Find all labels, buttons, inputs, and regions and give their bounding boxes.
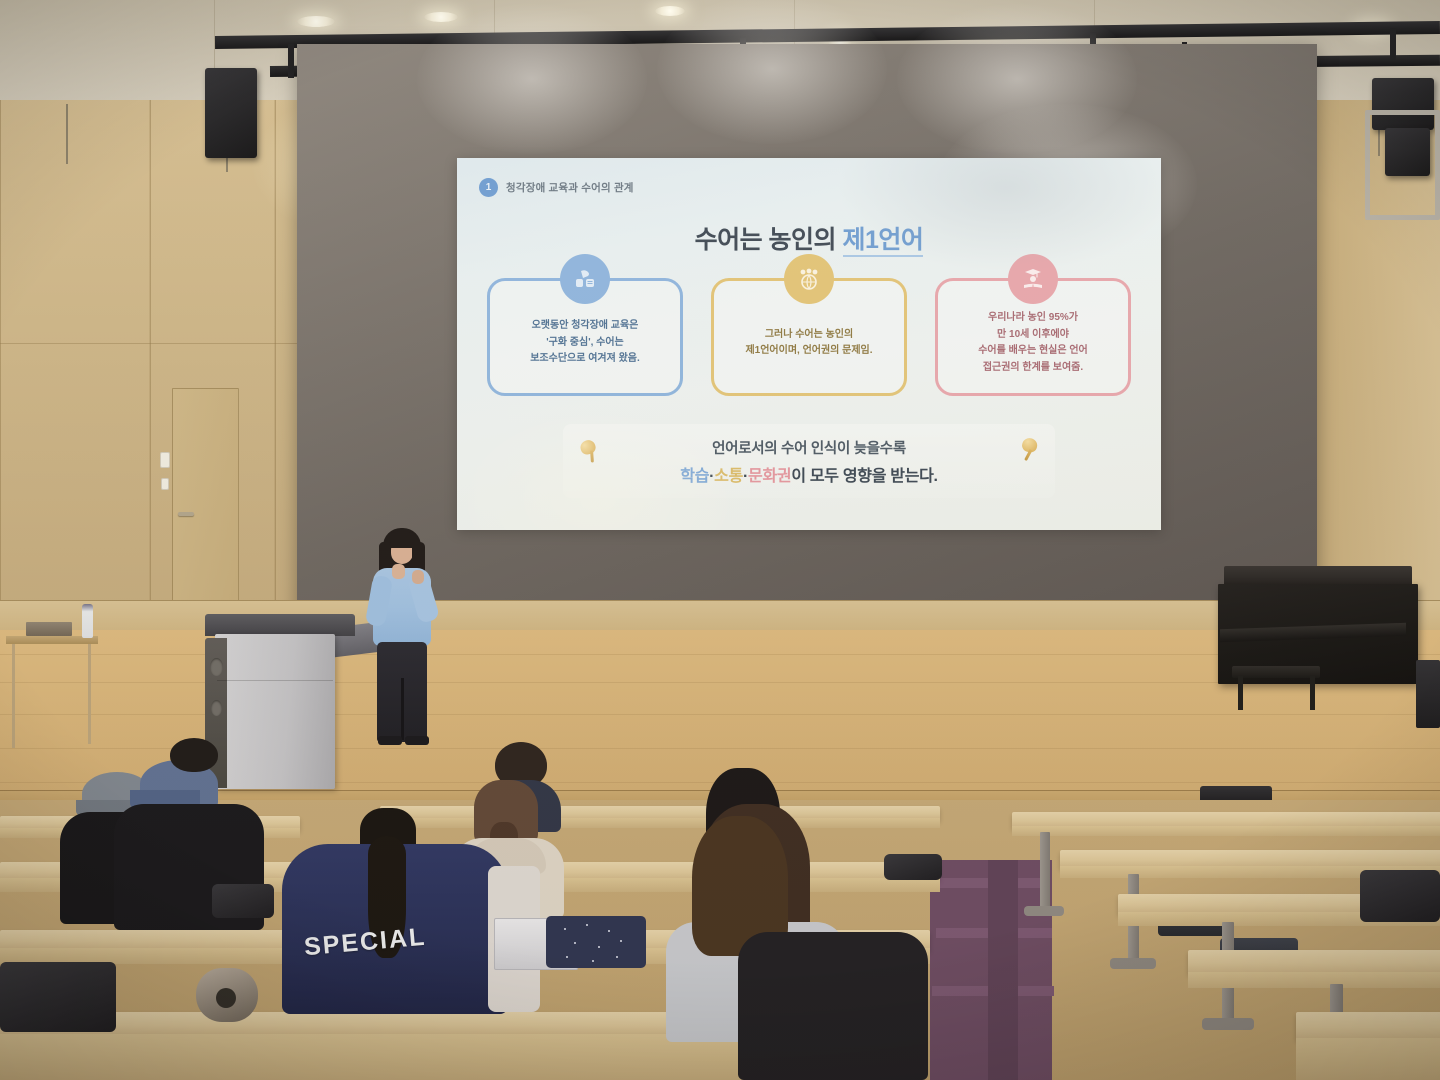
- slide-card-language-rights: 그러나 수어는 농인의 제1언어이며, 언어권의 문제임.: [711, 278, 907, 396]
- bag-on-desk: [884, 854, 942, 880]
- ceiling-light-icon: [297, 16, 335, 27]
- presenter-signing: [365, 528, 437, 758]
- backpack: [0, 962, 116, 1032]
- slide-card-group: 오랫동안 청각장애 교육은 '구화 중심', 수어는 보조수단으로 여겨져 왔음…: [487, 278, 1131, 396]
- slide-card-oralism: 오랫동안 청각장애 교육은 '구화 중심', 수어는 보조수단으로 여겨져 왔음…: [487, 278, 683, 396]
- water-bottle: [82, 604, 93, 638]
- lectern-podium: [205, 614, 355, 789]
- light-switch[interactable]: [161, 478, 169, 490]
- section-number-badge: 1: [479, 178, 498, 197]
- seat-cushion: [546, 916, 646, 968]
- ceiling-speaker: [205, 68, 257, 158]
- pushpin-icon: [578, 438, 602, 466]
- slide-title: 수어는 농인의 제1언어: [457, 220, 1161, 256]
- light-switch[interactable]: [160, 452, 170, 468]
- slide-summary-box: 언어로서의 수어 인식이 늦을수록 학습·소통·문화권이 모두 영향을 받는다.: [563, 424, 1055, 498]
- lecture-desk: [1296, 1012, 1440, 1040]
- lecture-desk: [1188, 950, 1440, 974]
- presentation-slide: 1 청각장애 교육과 수어의 관계 수어는 농인의 제1언어 오랫동: [457, 158, 1161, 530]
- keyword-communication: 소통: [714, 468, 743, 485]
- summary-tail: 이 모두 영향을 받는다.: [791, 468, 937, 485]
- section-title-text: 청각장애 교육과 수어의 관계: [506, 180, 634, 195]
- book-on-table: [26, 622, 72, 636]
- pushpin-icon: [1017, 436, 1039, 463]
- slide-title-plain: 수어는 농인의: [695, 226, 843, 254]
- upright-piano: [1218, 566, 1418, 696]
- slide-section-label: 1 청각장애 교육과 수어의 관계: [479, 178, 634, 197]
- slide-card-text: 그러나 수어는 농인의 제1언어이며, 언어권의 문제임.: [733, 309, 884, 366]
- bag-on-desk: [212, 884, 274, 918]
- keyword-learning: 학습: [680, 468, 709, 485]
- slide-card-text: 우리나라 농인 95%가 만 10세 이후에야 수어를 배우는 현실은 언어 접…: [966, 292, 1100, 382]
- ceiling-light-icon: [424, 12, 458, 22]
- ceiling-light-icon: [655, 6, 685, 16]
- auditorium-photo: 1 청각장애 교육과 수어의 관계 수어는 농인의 제1언어 오랫동: [0, 0, 1440, 1080]
- speaker-mount-bracket: [1365, 110, 1440, 220]
- summary-line-2: 학습·소통·문화권이 모두 영향을 받는다.: [680, 462, 937, 486]
- bag-detail: [216, 988, 236, 1008]
- aisle-carpet: [988, 860, 1018, 1080]
- piano-bench: [1232, 666, 1320, 678]
- keyword-culture-rights: 문화권: [748, 468, 791, 485]
- backpack: [1360, 870, 1440, 922]
- slide-card-access-statistic: 우리나라 농인 95%가 만 10세 이후에야 수어를 배우는 현실은 언어 접…: [935, 278, 1131, 396]
- graduation-book-icon: [1008, 254, 1058, 304]
- slide-card-text: 오랫동안 청각장애 교육은 '구화 중심', 수어는 보조수단으로 여겨져 왔음…: [518, 300, 652, 374]
- slide-title-highlight: 제1언어: [843, 226, 924, 257]
- sign-language-hands-icon: [560, 254, 610, 304]
- door-handle-icon: [178, 512, 194, 516]
- stage-monitor: [1416, 660, 1440, 728]
- globe-people-icon: [784, 254, 834, 304]
- summary-line-1: 언어로서의 수어 인식이 늦을수록: [712, 437, 906, 458]
